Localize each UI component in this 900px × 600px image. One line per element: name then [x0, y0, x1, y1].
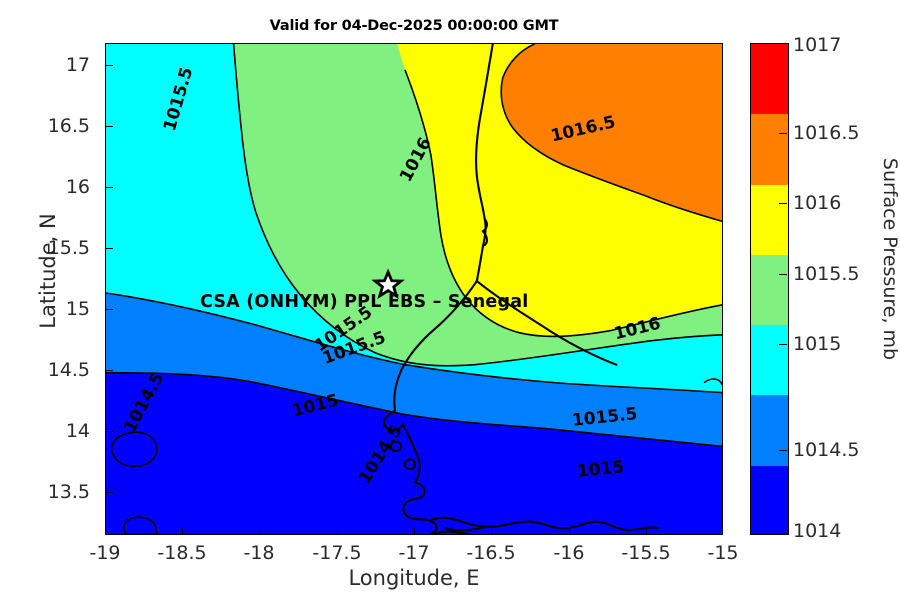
- x-tickmark-m17p5: [337, 528, 338, 535]
- y-tick-17: 17: [12, 54, 90, 76]
- y-tickmark-14: [106, 431, 113, 432]
- x-tickmark-m18p5: [182, 528, 183, 535]
- colorbar-tickmark-1016p5: [779, 133, 787, 134]
- y-tickmark-16: [106, 187, 113, 188]
- colorbar-band-below-1014: [751, 466, 788, 535]
- x-tick-m16p5: -16.5: [446, 542, 536, 564]
- contour-map: [106, 44, 722, 534]
- colorbar: [750, 43, 789, 535]
- x-tickmark-m16: [569, 528, 570, 535]
- y-tickmark-14p5: [106, 370, 113, 371]
- colorbar-tickmark-1015: [779, 344, 787, 345]
- colorbar-tick-1016p5: 1016.5: [793, 122, 859, 144]
- colorbar-band-1015-1015p5: [751, 255, 788, 325]
- colorbar-tick-1014p5: 1014.5: [793, 439, 859, 461]
- colorbar-tick-1015: 1015: [793, 333, 841, 355]
- colorbar-band-1016p5-1017: [751, 44, 788, 114]
- site-annotation-label: CSA (ONHYM) PPL EBS – Senegal: [200, 292, 528, 312]
- colorbar-band-1016-1016p5: [751, 114, 788, 184]
- y-axis-label: Latitude, N: [36, 171, 60, 371]
- colorbar-band-1014-1014p5: [751, 395, 788, 465]
- y-tick-14: 14: [12, 420, 90, 442]
- x-tick-m15: -15: [678, 542, 768, 564]
- contour-plot-area: 1015.5 1016 1016.5 1016 1015.5 1015.5 10…: [105, 43, 723, 535]
- x-tickmark-m16p5: [491, 528, 492, 535]
- colorbar-tick-1014: 1014: [793, 520, 841, 542]
- colorbar-tick-1016: 1016: [793, 192, 841, 214]
- y-tickmark-17: [106, 65, 113, 66]
- x-tickmark-m18: [259, 528, 260, 535]
- y-tick-13p5: 13.5: [12, 481, 90, 503]
- x-axis-label: Longitude, E: [105, 566, 723, 590]
- colorbar-tickmark-1014p5: [779, 450, 787, 451]
- colorbar-band-1014p5-1015: [751, 325, 788, 395]
- y-tickmark-15p5: [106, 248, 113, 249]
- y-tickmark-13p5: [106, 492, 113, 493]
- colorbar-tick-1017: 1017: [793, 34, 841, 56]
- figure-title: Valid for 04-Dec-2025 00:00:00 GMT: [105, 18, 723, 34]
- colorbar-band-1015p5-1016: [751, 185, 788, 255]
- figure-root: Valid for 04-Dec-2025 00:00:00 GMT: [0, 0, 900, 600]
- colorbar-tickmark-1015p5: [779, 274, 787, 275]
- colorbar-tick-1015p5: 1015.5: [793, 263, 859, 285]
- y-tick-16p5: 16.5: [12, 115, 90, 137]
- colorbar-tickmark-1016: [779, 203, 787, 204]
- y-tickmark-16p5: [106, 126, 113, 127]
- x-tickmark-m17: [414, 528, 415, 535]
- x-tick-m18: -18: [214, 542, 304, 564]
- colorbar-axis-label: Surface Pressure, mb: [879, 129, 900, 389]
- x-tickmark-m15p5: [646, 528, 647, 535]
- y-tickmark-15: [106, 309, 113, 310]
